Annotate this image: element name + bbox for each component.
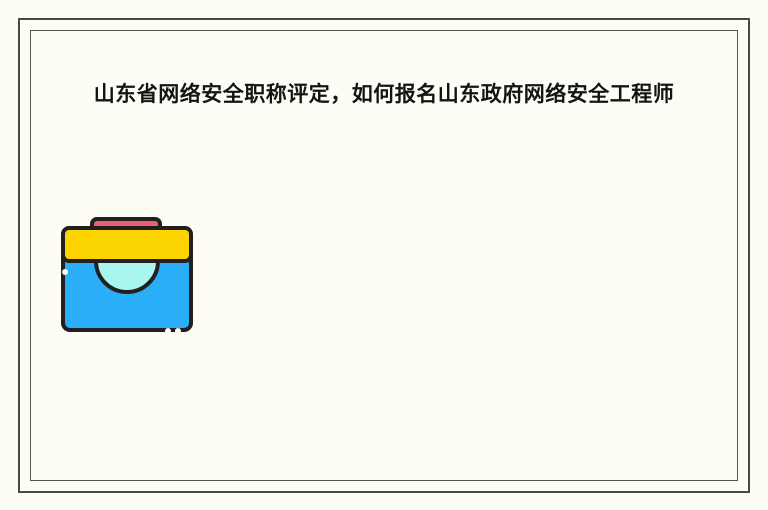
placeholder-gap-bottom-a (165, 328, 171, 334)
broken-image-placeholder-icon (56, 204, 198, 336)
placeholder-band-yellow (63, 228, 191, 261)
broken-image-placeholder-graphic (56, 204, 198, 336)
page-title: 山东省网络安全职称评定，如何报名山东政府网络安全工程师 (58, 78, 710, 111)
placeholder-gap-bottom-b (175, 328, 181, 334)
placeholder-gap-left (62, 269, 68, 275)
content-area: 山东省网络安全职称评定，如何报名山东政府网络安全工程师 (30, 30, 738, 481)
page-root: 山东省网络安全职称评定，如何报名山东政府网络安全工程师 (0, 0, 768, 510)
